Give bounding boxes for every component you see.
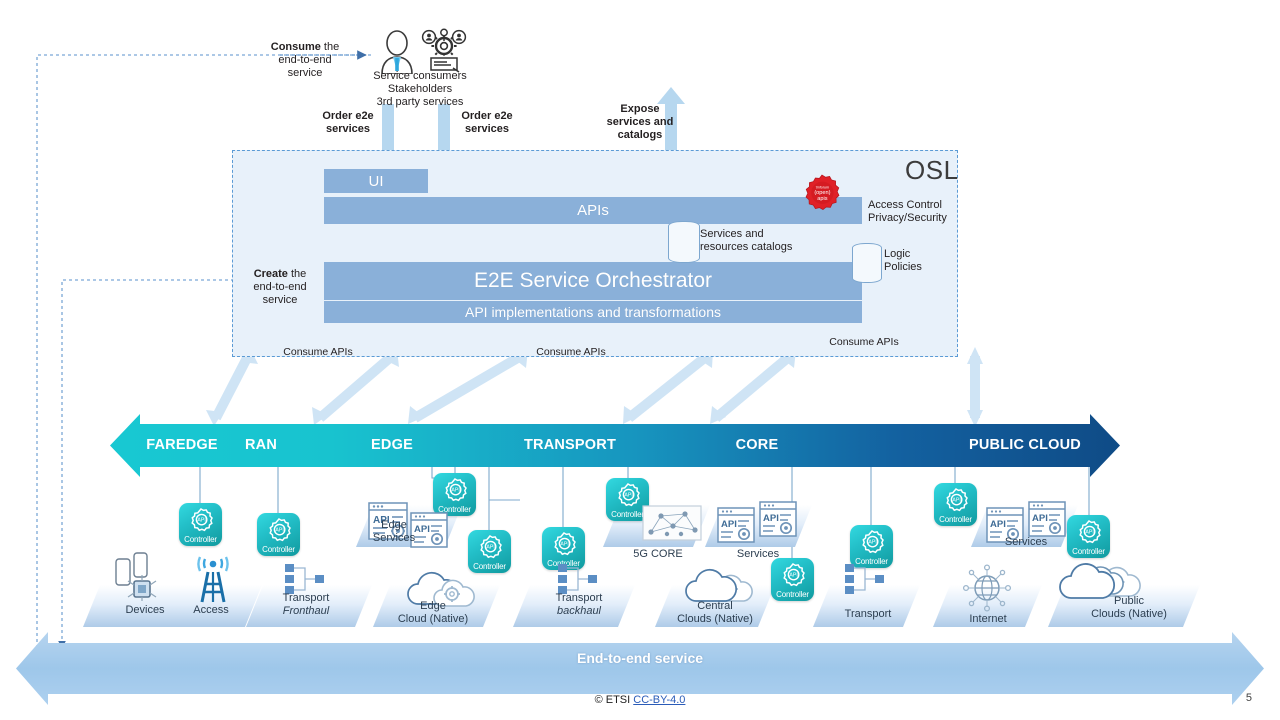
order-left-line2: services — [326, 123, 370, 135]
svg-text:API: API — [789, 573, 797, 579]
api-gear-icon: API — [551, 531, 577, 557]
consume-apis-arrows — [206, 347, 983, 427]
access-control-label: Access Control Privacy/Security — [868, 199, 963, 225]
network-nodes-icon — [843, 563, 889, 595]
api-gear-icon: API — [943, 487, 969, 513]
actors-line3: 3rd party services — [377, 96, 464, 108]
apis-bar[interactable]: APIs — [324, 197, 862, 224]
svg-text:API: API — [1085, 530, 1093, 536]
svg-text:API: API — [560, 542, 568, 548]
domain-label-core[interactable]: CORE — [702, 424, 812, 467]
create-e2e-label: Create the end-to-end service — [240, 268, 320, 307]
platform-label-public-cloud-services: Services — [990, 536, 1062, 549]
domain-bar: FAREDGE RAN EDGE TRANSPORT CORE PUBLIC C… — [110, 424, 1120, 467]
create-line3: service — [263, 294, 298, 306]
controller-edge-cloud[interactable]: API Controller — [468, 530, 511, 573]
actors-line2: Stakeholders — [388, 83, 452, 95]
api-gear-icon: API — [859, 529, 885, 555]
expose-line2: services and — [607, 116, 674, 128]
api-gear-icon: API — [615, 482, 641, 508]
controller-central-clouds[interactable]: API Controller — [771, 558, 814, 601]
controller-label: Controller — [257, 545, 300, 554]
svg-text:API: API — [624, 493, 632, 499]
actors-line1: Service consumers — [373, 70, 467, 82]
consume-apis-label-2: Consume APIs — [525, 346, 617, 358]
stakeholders-gear-icon — [420, 28, 468, 74]
core-topology-icon — [641, 504, 703, 546]
order-left-line1: Order e2e — [322, 110, 373, 122]
catalogs-label: Services and resources catalogs — [700, 228, 820, 254]
platform-label-transport-core: Transport — [828, 608, 908, 621]
api-docs-icon: API API — [716, 500, 804, 552]
order-right-line1: Order e2e — [461, 110, 512, 122]
consume-line3: service — [288, 67, 323, 79]
controller-label: Controller — [179, 535, 222, 544]
access-control-line2: Privacy/Security — [868, 212, 947, 224]
consume-line2: end-to-end — [278, 54, 331, 66]
consume-apis-label-1: Consume APIs — [272, 346, 364, 358]
svg-text:API: API — [952, 498, 960, 504]
platform-label-edge-cloud: Edge Cloud (Native) — [382, 600, 484, 625]
tmforum-open-apis-seal: tmforum (open) apis — [802, 174, 842, 214]
consume-rest: the — [321, 41, 339, 53]
services-catalog-cylinder-icon — [668, 221, 700, 263]
footer: © ETSI CC-BY-4.0 — [0, 694, 1280, 706]
order-e2e-right-label: Order e2e services — [452, 110, 522, 136]
logic-line2: Policies — [884, 261, 922, 273]
logic-policies-cylinder-icon — [852, 243, 882, 283]
seal-line3: apis — [817, 196, 827, 202]
order-e2e-left-label: Order e2e services — [313, 110, 383, 136]
globe-icon — [958, 563, 1016, 613]
controller-label: Controller — [934, 515, 977, 524]
controller-transport-core[interactable]: API Controller — [850, 525, 893, 568]
osl-title: OSL — [905, 155, 959, 186]
logic-policies-label: Logic Policies — [884, 248, 954, 274]
antenna-icon — [190, 556, 236, 604]
catalogs-line2: resources catalogs — [700, 241, 792, 253]
api-gear-icon: API — [188, 507, 214, 533]
slide-canvas: Consume the end-to-end service Service c… — [0, 0, 1280, 720]
svg-text:API: API — [451, 488, 459, 494]
ui-bar[interactable]: UI — [324, 169, 428, 193]
footer-copyright: © ETSI — [595, 694, 634, 706]
svg-text:API: API — [275, 528, 283, 534]
create-bold: Create — [254, 268, 288, 280]
consume-bold: Consume — [271, 41, 321, 53]
svg-text:API: API — [868, 540, 876, 546]
platform-label-access: Access — [180, 604, 242, 617]
create-line2: end-to-end — [253, 281, 306, 293]
devices-icon — [112, 551, 172, 603]
platform-label-edge-services: Edge Services — [363, 519, 425, 544]
svg-text:API: API — [197, 518, 205, 524]
catalogs-line1: Services and — [700, 228, 764, 240]
access-control-line1: Access Control — [868, 199, 942, 211]
order-right-line2: services — [465, 123, 509, 135]
logic-line1: Logic — [884, 248, 910, 260]
platform-label-public-clouds: Public Clouds (Native) — [1078, 595, 1180, 620]
platform-label-core-services: Services — [722, 548, 794, 561]
consume-e2e-label: Consume the end-to-end service — [245, 41, 365, 80]
network-nodes-icon — [556, 563, 602, 595]
seal-line1: tmforum — [816, 185, 829, 189]
license-link[interactable]: CC-BY-4.0 — [633, 694, 685, 706]
domain-label-edge[interactable]: EDGE — [337, 424, 447, 467]
svg-text:API: API — [1032, 513, 1048, 524]
platform-label-transport-backhaul: Transport backhaul — [538, 592, 620, 617]
svg-text:API: API — [721, 519, 737, 530]
api-gear-icon: API — [477, 534, 503, 560]
platform-label-central-clouds: Central Clouds (Native) — [664, 600, 766, 625]
api-gear-icon: API — [780, 562, 806, 588]
page-number: 5 — [1246, 692, 1252, 704]
person-icon — [378, 30, 416, 74]
platform-label-devices: Devices — [105, 604, 185, 617]
create-rest: the — [288, 268, 306, 280]
svg-text:API: API — [486, 545, 494, 551]
expose-line1: Expose — [620, 103, 659, 115]
controller-transport-fronthaul[interactable]: API Controller — [257, 513, 300, 556]
e2e-service-orchestrator-bar[interactable]: E2E Service Orchestrator — [324, 262, 862, 300]
domain-label-public-cloud[interactable]: PUBLIC CLOUD — [955, 424, 1095, 467]
platform-label-5g-core: 5G CORE — [622, 548, 694, 561]
svg-text:API: API — [763, 513, 779, 524]
cloud-gear-icon — [682, 563, 754, 605]
platform-label-internet: Internet — [950, 613, 1026, 626]
api-gear-icon: API — [1076, 519, 1102, 545]
actors-label: Service consumers Stakeholders 3rd party… — [355, 70, 485, 109]
api-gear-icon: API — [266, 517, 292, 543]
expose-line3: catalogs — [618, 129, 663, 141]
network-nodes-icon — [283, 563, 329, 595]
controller-public-cloud-services[interactable]: API Controller — [934, 483, 977, 526]
controller-access[interactable]: API Controller — [179, 503, 222, 546]
controller-label: Controller — [771, 590, 814, 599]
platform-label-transport-fronthaul: Transport Fronthaul — [265, 592, 347, 617]
svg-text:API: API — [990, 519, 1006, 530]
domain-label-transport[interactable]: TRANSPORT — [510, 424, 630, 467]
api-implementations-bar[interactable]: API implementations and transformations — [324, 301, 862, 323]
end-to-end-service-label: End-to-end service — [0, 650, 1280, 666]
consume-apis-label-3: Consume APIs — [818, 336, 910, 348]
expose-label: Expose services and catalogs — [590, 103, 690, 142]
domain-label-ran[interactable]: RAN — [206, 424, 316, 467]
